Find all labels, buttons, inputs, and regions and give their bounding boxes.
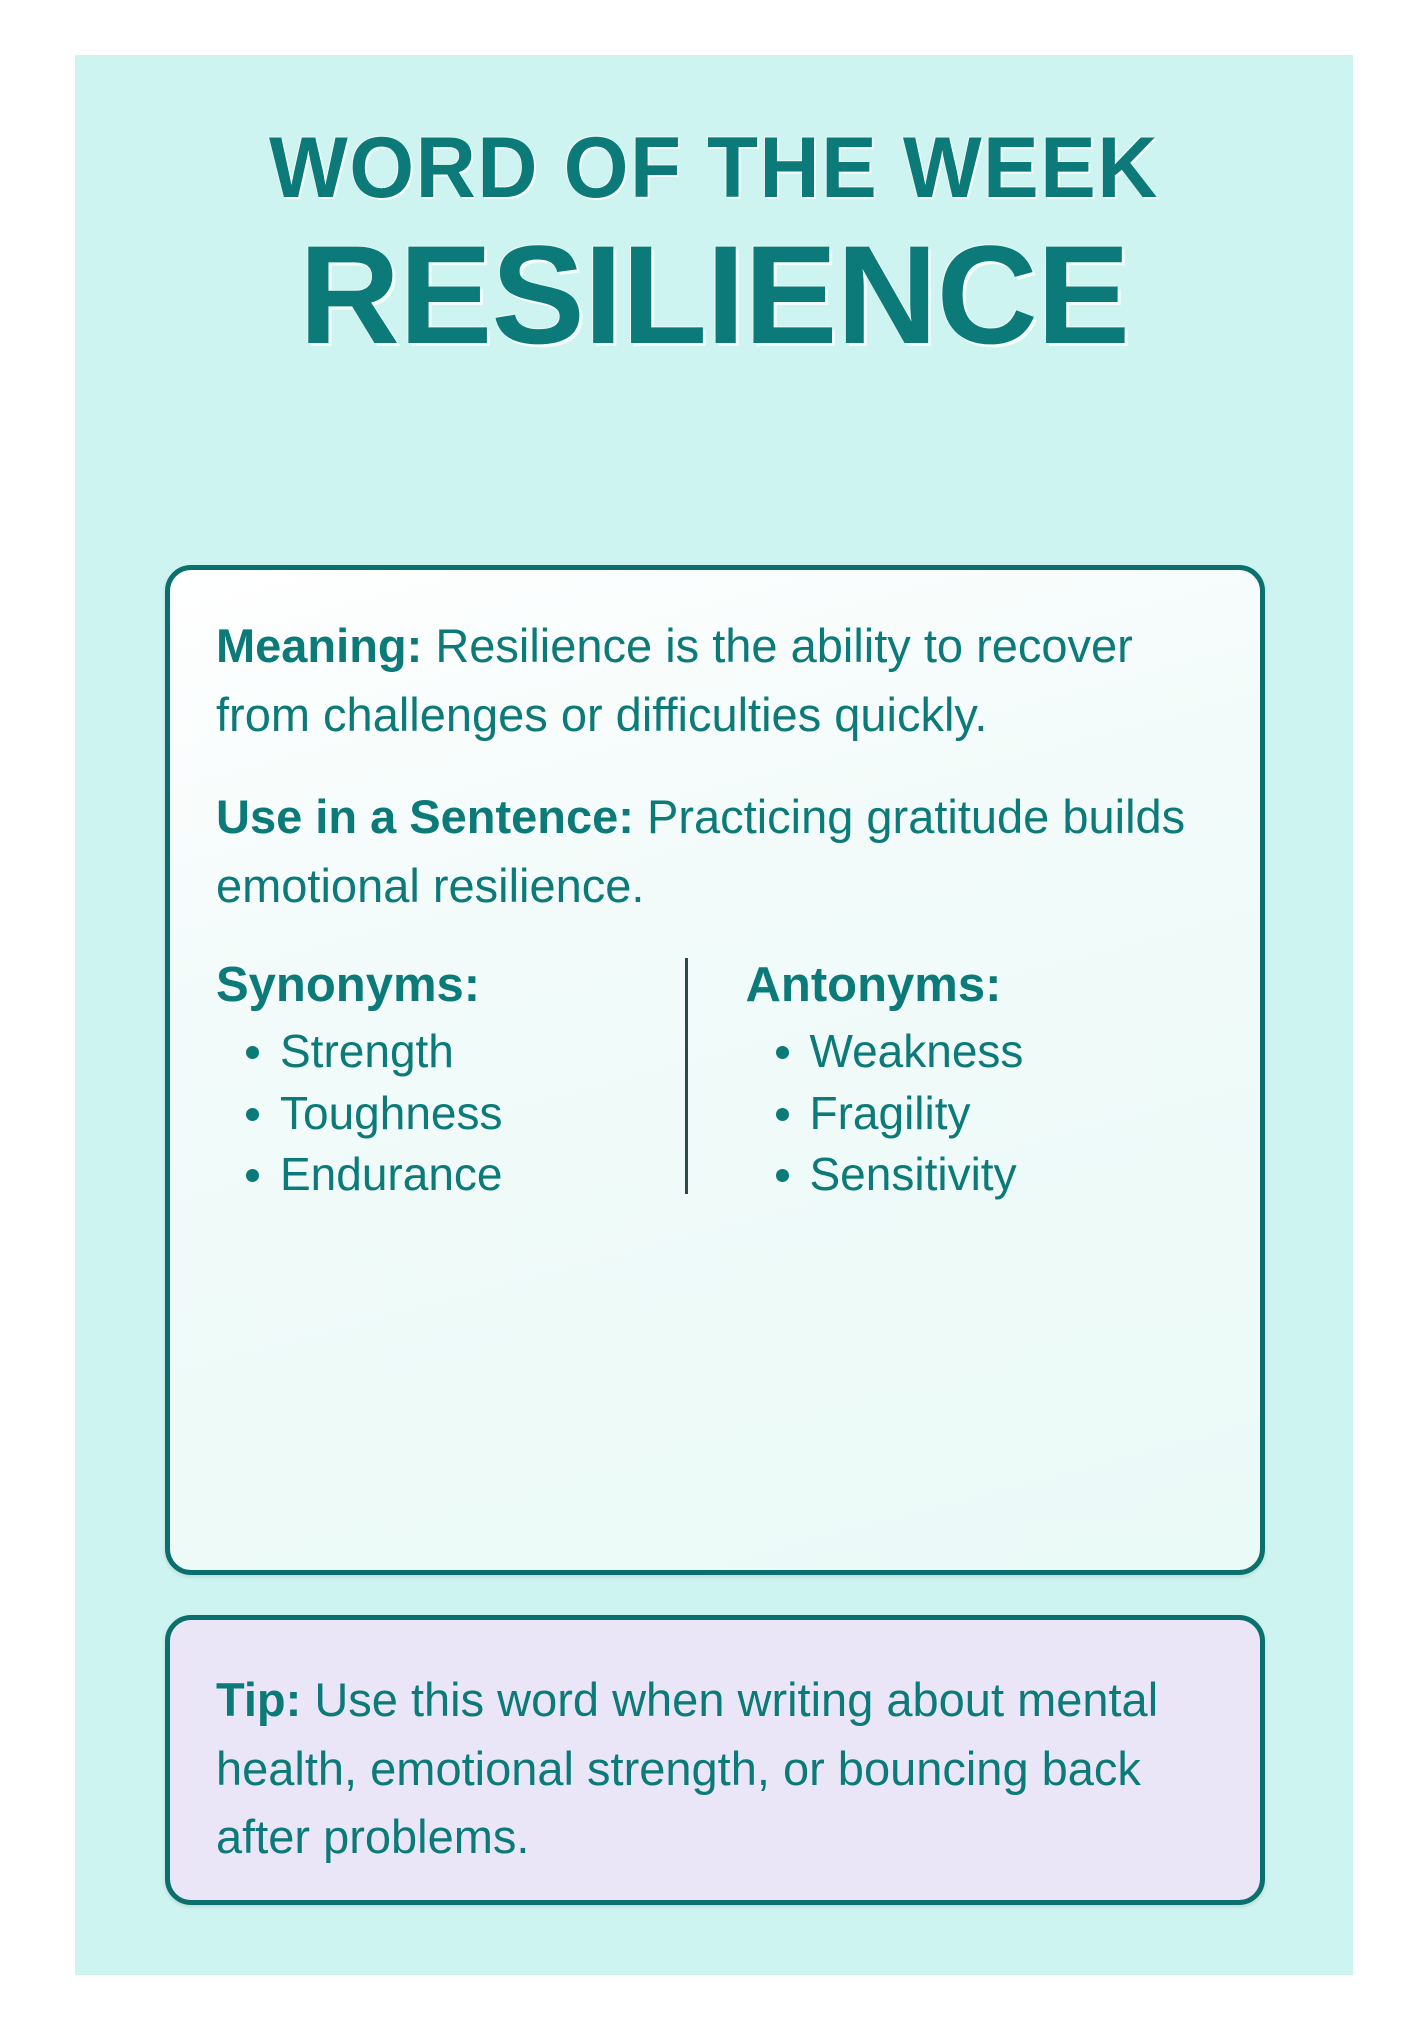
list-item: Weakness — [772, 1021, 1215, 1083]
antonym-label: Fragility — [810, 1087, 971, 1139]
list-item: Toughness — [242, 1083, 685, 1145]
synonyms-list: Strength Toughness Endurance — [216, 1021, 685, 1206]
tip-block: Tip: Use this word when writing about me… — [216, 1666, 1214, 1872]
poster-kicker: WORD OF THE WEEK — [94, 55, 1334, 211]
antonym-label: Weakness — [810, 1025, 1024, 1077]
tip-card: Tip: Use this word when writing about me… — [165, 1615, 1265, 1905]
bullet-icon — [246, 1108, 259, 1121]
tip-text: Use this word when writing about mental … — [216, 1673, 1158, 1863]
tip-label: Tip: — [216, 1673, 301, 1726]
synonym-label: Toughness — [280, 1087, 503, 1139]
sentence-block: Use in a Sentence: Practicing gratitude … — [216, 783, 1214, 920]
list-item: Strength — [242, 1021, 685, 1083]
bullet-icon — [246, 1169, 259, 1182]
bullet-icon — [776, 1108, 789, 1121]
list-item: Sensitivity — [772, 1144, 1215, 1206]
bullet-icon — [246, 1046, 259, 1059]
synonym-label: Strength — [280, 1025, 454, 1077]
antonyms-list: Weakness Fragility Sensitivity — [746, 1021, 1215, 1206]
synonym-label: Endurance — [280, 1148, 503, 1200]
list-item: Fragility — [772, 1083, 1215, 1145]
synonyms-title: Synonyms: — [216, 956, 685, 1015]
synonyms-antonyms-columns: Synonyms: Strength Toughness Endurance A… — [216, 956, 1214, 1206]
meaning-label: Meaning: — [216, 619, 422, 672]
bullet-icon — [776, 1169, 789, 1182]
antonym-label: Sensitivity — [810, 1148, 1017, 1200]
poster-word-title: RESILIENCE — [75, 211, 1353, 365]
sentence-label: Use in a Sentence: — [216, 790, 634, 843]
list-item: Endurance — [242, 1144, 685, 1206]
synonyms-column: Synonyms: Strength Toughness Endurance — [216, 956, 685, 1206]
meaning-block: Meaning: Resilience is the ability to re… — [216, 612, 1214, 749]
word-of-the-week-poster: WORD OF THE WEEK RESILIENCE Meaning: Res… — [75, 55, 1353, 1975]
antonyms-column: Antonyms: Weakness Fragility Sensitivity — [688, 956, 1215, 1206]
poster-header: WORD OF THE WEEK RESILIENCE — [75, 55, 1353, 365]
antonyms-title: Antonyms: — [746, 956, 1215, 1015]
definition-card: Meaning: Resilience is the ability to re… — [165, 565, 1265, 1575]
bullet-icon — [776, 1046, 789, 1059]
